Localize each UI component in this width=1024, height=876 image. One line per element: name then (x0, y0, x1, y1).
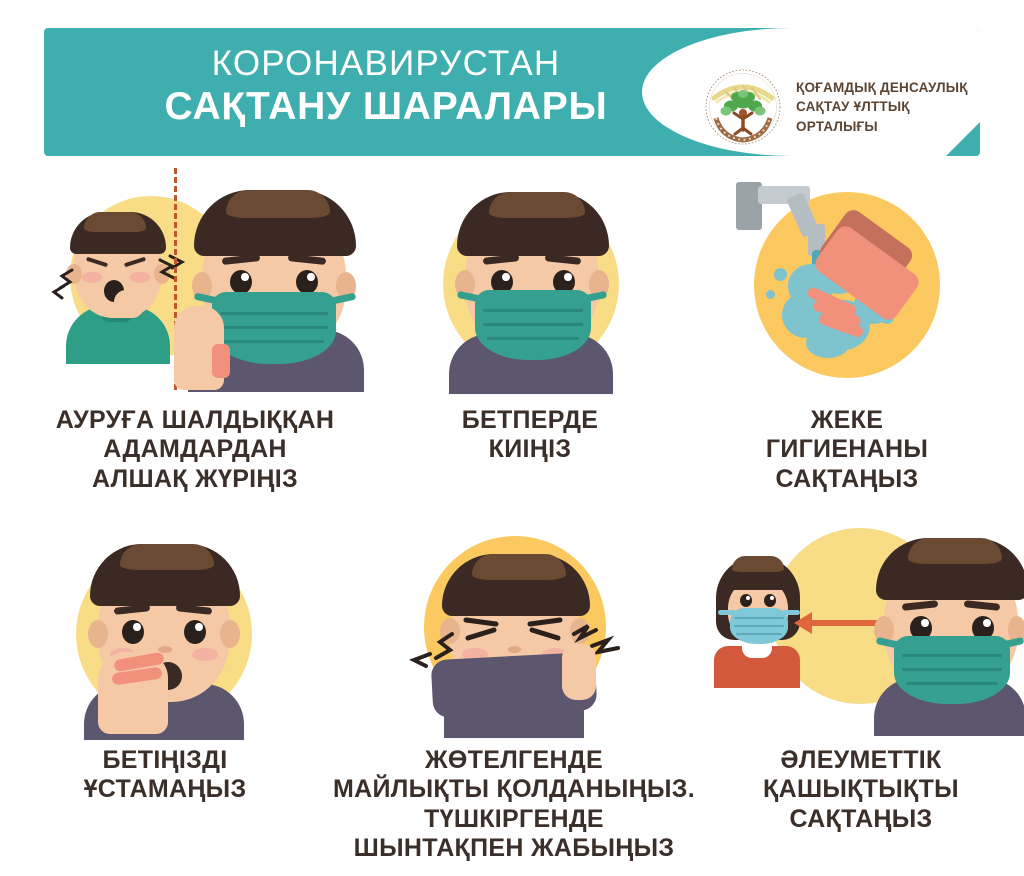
girl-bangs (726, 572, 790, 590)
boy-squint-eye-left (462, 614, 502, 644)
two-masked-people-with-arrow-icon (698, 522, 1024, 734)
boy-squint-eye-right (524, 614, 564, 644)
foam-bubble-small (774, 268, 787, 281)
boy-hair-highlight (84, 212, 146, 232)
tips-row-2: БЕТІҢІЗДІ ҰСТАМАҢЫЗ (0, 520, 1024, 876)
boy-fist (114, 290, 144, 318)
tip-card-personal-hygiene: ЖЕКЕ ГИГИЕНАНЫ САҚТАҢЫЗ (670, 160, 1024, 520)
man-mask-pleat-3 (906, 682, 998, 685)
man-ear-right (220, 620, 240, 648)
boy-cheek-left (82, 272, 102, 283)
tip-caption: БЕТПЕРДЕ КИІҢІЗ (462, 406, 599, 465)
tip-card-wear-a-mask: БЕТПЕРДЕ КИІҢІЗ (390, 160, 670, 520)
tip-caption: БЕТІҢІЗДІ ҰСТАМАҢЫЗ (84, 746, 247, 805)
foam-bubble-small (766, 290, 775, 299)
man-mask-pleat-2 (902, 668, 1002, 671)
title-line-2: САҚТАНУ ШАРАЛАРЫ (106, 87, 666, 126)
man-thumb (212, 344, 230, 378)
man-hair-highlight (908, 538, 1002, 564)
man-mask-pleat-2 (220, 326, 328, 329)
man-mask-pleat-2 (483, 323, 583, 326)
tip-caption: ЖЕКЕ ГИГИЕНАНЫ САҚТАҢЫЗ (766, 406, 928, 494)
boy-hair-highlight (472, 554, 566, 580)
poster-canvas: КОРОНАВИРУСТАН САҚТАНУ ШАРАЛАРЫ (0, 0, 1024, 876)
arrow-head-left (794, 612, 812, 634)
boy-cheek-right (130, 272, 150, 283)
man-eye-left (230, 270, 252, 294)
cough-into-elbow-icon (384, 522, 644, 734)
man-cheek-right (192, 648, 218, 661)
tips-grid: АУРУҒА ШАЛДЫҚҚАН АДАМДАРДАН АЛШАҚ ЖҮРІҢІ… (0, 160, 1024, 876)
tree-emblem-icon (704, 68, 782, 146)
man-mask-pleat-3 (224, 340, 324, 343)
girl-eye-right (764, 594, 776, 607)
organization-name: ҚОҒАМДЫҚ ДЕНСАУЛЫҚ САҚТАУ ҰЛТТЫҚ ОРТАЛЫҒ… (796, 78, 968, 137)
tip-card-social-distancing: ӘЛЕУМЕТТІК ҚАШЫҚТЫҚТЫ САҚТАҢЫЗ (698, 520, 1024, 876)
tip-card-cover-cough: ЖӨТЕЛГЕНДЕ МАЙЛЫҚТЫ ҚОЛДАНЫҢЫЗ. ТҮШКІРГЕ… (330, 520, 698, 876)
sick-person-and-masked-man-icon (30, 168, 360, 390)
title-line-1: КОРОНАВИРУСТАН (106, 46, 666, 81)
man-mask-pleat-1 (483, 309, 583, 312)
tip-caption: ЖӨТЕЛГЕНДЕ МАЙЛЫҚТЫ ҚОЛДАНЫҢЫЗ. ТҮШКІРГЕ… (333, 746, 695, 863)
girl-mask-strap-left (718, 610, 736, 615)
man-ear-left (88, 620, 108, 648)
man-mask-pleat-3 (487, 337, 579, 340)
girl-mask-pleat-3 (736, 633, 782, 635)
page-title: КОРОНАВИРУСТАН САҚТАНУ ШАРАЛАРЫ (106, 46, 666, 126)
man-eye-right (296, 270, 318, 294)
girl-mask-pleat-1 (734, 617, 784, 619)
tips-row-1: АУРУҒА ШАЛДЫҚҚАН АДАМДАРДАН АЛШАҚ ЖҮРІҢІ… (0, 160, 1024, 520)
hand-touching-face-icon (40, 522, 290, 734)
man-eye-right (184, 620, 206, 644)
tip-caption: АУРУҒА ШАЛДЫҚҚАН АДАМДАРДАН АЛШАҚ ЖҮРІҢІ… (56, 406, 334, 494)
girl-hair-top-highlight (732, 556, 784, 572)
masked-man-icon (415, 168, 645, 390)
tip-card-do-not-touch-face: БЕТІҢІЗДІ ҰСТАМАҢЫЗ (0, 520, 330, 876)
man-nose (158, 646, 172, 653)
header-band: КОРОНАВИРУСТАН САҚТАНУ ШАРАЛАРЫ (44, 28, 980, 156)
tip-caption: ӘЛЕУМЕТТІК ҚАШЫҚТЫҚТЫ САҚТАҢЫЗ (763, 746, 959, 834)
girl-collar (742, 644, 772, 658)
cough-lines-left (40, 264, 76, 304)
organization-logo: ҚОҒАМДЫҚ ДЕНСАУЛЫҚ САҚТАУ ҰЛТТЫҚ ОРТАЛЫҒ… (704, 68, 968, 146)
tip-card-keep-distance-from-sick: АУРУҒА ШАЛДЫҚҚАН АДАМДАРДАН АЛШАҚ ЖҮРІҢІ… (0, 160, 390, 520)
hand-washing-faucet-icon (722, 168, 972, 390)
man-eye-left (122, 620, 144, 644)
man-hair-highlight (226, 190, 330, 218)
man-mask-pleat-1 (902, 654, 1002, 657)
man-hair-highlight (120, 544, 214, 570)
girl-eye-left (740, 594, 752, 607)
boy-hand (562, 644, 596, 700)
girl-mask-pleat-2 (734, 625, 784, 627)
man-mask-pleat-1 (220, 312, 328, 315)
man-hair-highlight (489, 192, 585, 218)
boy-nose (508, 646, 521, 653)
